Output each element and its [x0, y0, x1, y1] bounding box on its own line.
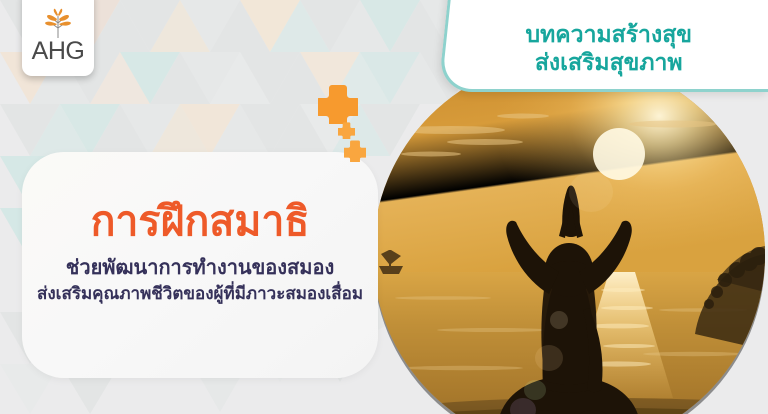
brand-logo[interactable]: AHG — [22, 0, 94, 76]
promo-banner: การฝึกสมาธิ ช่วยพัฒนาการทำงานของสมอง ส่ง… — [0, 0, 768, 414]
subtitle-line-1: ช่วยพัฒนาการทำงานของสมอง — [66, 255, 334, 279]
subtitle-line-2: ส่งเสริมคุณภาพชีวิตของผู้ที่มีภาวะสมองเส… — [37, 284, 363, 304]
brand-logo-text: AHG — [32, 39, 85, 64]
plus-cross-icon — [338, 122, 355, 139]
wheat-sprig-icon — [38, 8, 78, 38]
category-line-1: บทความสร้างสุข — [526, 21, 692, 49]
category-line-2: ส่งเสริมสุขภาพ — [526, 49, 692, 77]
plus-cross-icon — [344, 140, 366, 162]
plus-cross-icon — [318, 84, 358, 124]
headline-card: การฝึกสมาธิ ช่วยพัฒนาการทำงานของสมอง ส่ง… — [22, 152, 378, 378]
page-title: การฝึกสมาธิ — [91, 200, 310, 243]
category-banner: บทความสร้างสุข ส่งเสริมสุขภาพ — [438, 0, 768, 92]
category-banner-text: บทความสร้างสุข ส่งเสริมสุขภาพ — [526, 21, 692, 77]
